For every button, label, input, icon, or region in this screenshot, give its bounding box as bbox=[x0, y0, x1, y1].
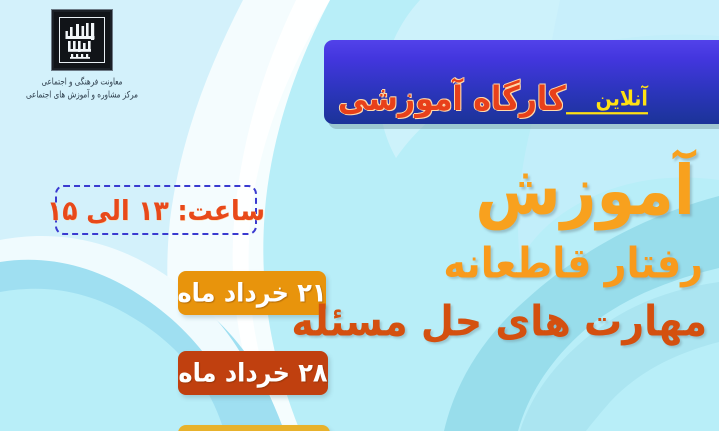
date-badge-3 bbox=[178, 425, 330, 431]
headline-area: آموزش رفتار قاطعانه مهارت های حل مسئله bbox=[331, 160, 711, 360]
university-logo-block: معاونت فرهنگی و اجتماعی مرکز مشاوره و آم… bbox=[22, 10, 142, 99]
headline-topic-1: رفتار قاطعانه bbox=[331, 242, 703, 284]
time-badge-label: ساعت: ۱۳ الی ۱۵ bbox=[47, 194, 265, 226]
workshop-poster: معاونت فرهنگی و اجتماعی مرکز مشاوره و آم… bbox=[0, 0, 719, 431]
header-banner: کارگاه آموزشی آنلاین bbox=[324, 40, 719, 124]
time-badge: ساعت: ۱۳ الی ۱۵ bbox=[55, 185, 257, 235]
headline-topic-2: مهارت های حل مسئله bbox=[331, 300, 707, 342]
shahid-beheshti-university-emblem-icon bbox=[52, 10, 112, 70]
banner-online-label: آنلاین bbox=[566, 89, 648, 115]
headline-main: آموزش bbox=[331, 157, 695, 225]
date-badge-2: ۲۸ خرداد ماه bbox=[178, 351, 328, 395]
logo-subtitle-line-2: مرکز مشاوره و آموزش های اجتماعی bbox=[22, 88, 142, 99]
banner-title: کارگاه آموزشی bbox=[338, 83, 566, 117]
logo-subtitle-line-1: معاونت فرهنگی و اجتماعی bbox=[22, 76, 142, 87]
date-badge-label: ۲۸ خرداد ماه bbox=[178, 358, 327, 388]
